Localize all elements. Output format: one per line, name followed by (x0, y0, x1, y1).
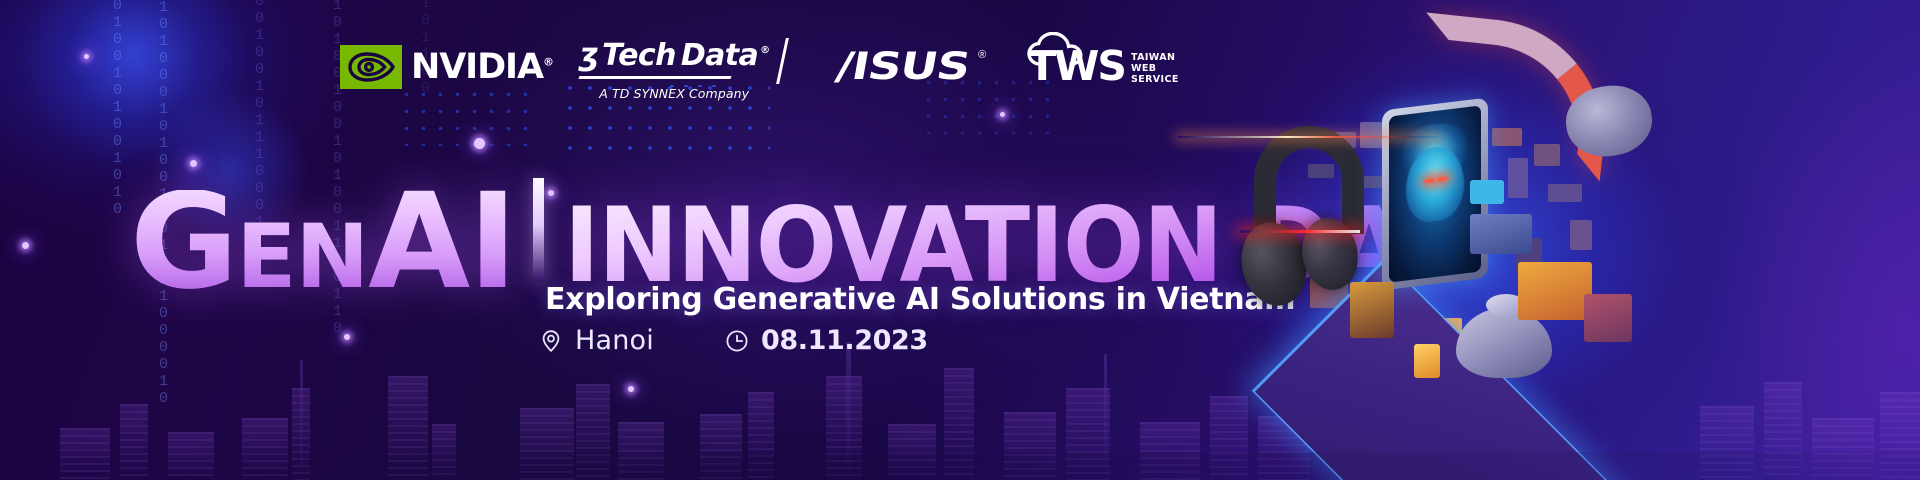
techdata-tech-text: Tech (602, 41, 676, 71)
techdata-data-text: Data (681, 41, 758, 71)
neon-lantern (1414, 344, 1440, 378)
neon-building (1350, 282, 1394, 338)
nvidia-wordmark: NVIDIA® (411, 50, 553, 85)
tws-logo: TWS TAIWAN WEB SERVICE (1028, 46, 1179, 87)
blue-glow-left (20, 0, 250, 170)
nvidia-wordmark-text: NVIDIA (411, 47, 543, 87)
sparkle-star (1000, 112, 1005, 117)
event-subtitle: Exploring Generative AI Solutions in Vie… (545, 282, 1295, 317)
asus-reg-mark: ® (978, 49, 986, 61)
neon-building (1584, 294, 1632, 342)
location-pin-icon (538, 328, 564, 354)
event-date-label: 08.11.2023 (761, 325, 928, 356)
binary-stream-3: 100100101110001 0 (252, 0, 267, 196)
sparkle-star (84, 54, 89, 59)
tws-sub-line-1: TAIWAN (1131, 52, 1179, 63)
sparkle-star (22, 242, 29, 249)
asus-wordmark: /ISUS (833, 47, 972, 85)
event-location-label: Hanoi (575, 325, 654, 356)
binary-stream-1: 00100101001010 (110, 0, 125, 160)
title-divider-bar (533, 178, 544, 282)
partner-logo-bar: NVIDIA® ʒ Tech Data ® A TD SYNNEX Compan… (340, 40, 1179, 102)
clock-icon (724, 328, 750, 354)
ai-face-eye (1424, 178, 1435, 183)
techdata-logo: ʒ Tech Data ® A TD SYNNEX Company (579, 40, 770, 101)
neon-building (1518, 262, 1592, 320)
genai-wordmark: G EN AI (130, 190, 515, 296)
screen-accent (1470, 180, 1504, 204)
techdata-divider-bar (776, 38, 789, 84)
event-date: 08.11.2023 (724, 325, 928, 356)
nvidia-reg-mark: ® (543, 55, 553, 68)
techdata-dot-accents (665, 83, 725, 87)
event-meta: Hanoi 08.11.2023 (538, 325, 928, 356)
tws-sub-line-3: SERVICE (1131, 74, 1179, 85)
tws-subtitle: TAIWAN WEB SERVICE (1131, 52, 1179, 87)
bottom-fade-strip (0, 452, 1920, 480)
techdata-tagline: A TD SYNNEX Company (579, 86, 770, 101)
laser-beam-horizontal (1178, 136, 1438, 138)
event-location: Hanoi (538, 325, 654, 356)
headphone-band (1254, 126, 1364, 234)
laser-beam-lower (1240, 230, 1360, 233)
tws-sub-line-2: WEB (1131, 63, 1179, 74)
genai-innovation-day-banner: 00100101001010 1101000101001001011000010… (0, 0, 1920, 480)
sparkle-star (474, 138, 485, 149)
genai-ai: AI (368, 190, 515, 296)
isometric-ai-tech-city-illustration (1218, 8, 1688, 480)
nvidia-logo: NVIDIA® (340, 45, 553, 89)
techdata-reg-mark: ® (760, 46, 769, 56)
tws-wordmark: TWS (1028, 46, 1125, 87)
genai-en: EN (236, 222, 368, 292)
techdata-underline-rule (578, 76, 731, 79)
techdata-wordmark: ʒ Tech Data ® (579, 40, 770, 71)
genai-g: G (130, 190, 236, 296)
techdata-d-glyph: ʒ (579, 40, 598, 71)
asus-logo: /ISUS ® (840, 47, 987, 93)
tablet-screen (1389, 105, 1481, 282)
ai-face-eye (1437, 177, 1448, 182)
nvidia-eye-icon (340, 45, 402, 89)
neon-building (1470, 214, 1532, 254)
